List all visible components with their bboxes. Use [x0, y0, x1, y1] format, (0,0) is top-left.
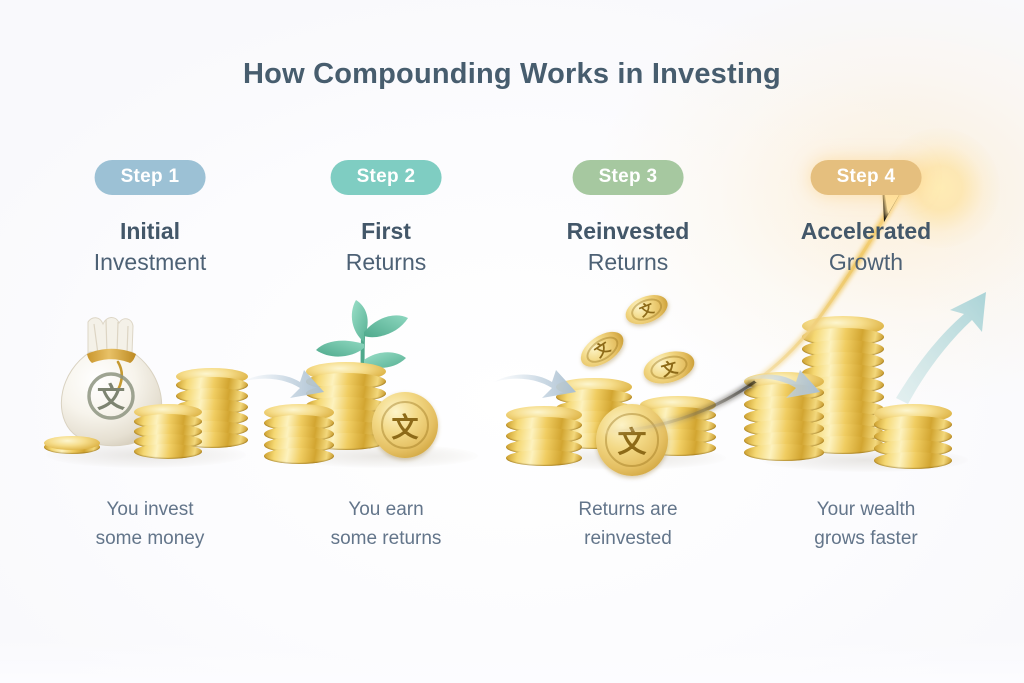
- step-caption-4: Your wealth grows faster: [738, 495, 994, 554]
- step-heading-4-line1: Accelerated: [738, 216, 994, 247]
- step-heading-2-line2: Returns: [258, 247, 514, 278]
- step-column-1: Step 1 Initial Investment: [22, 0, 278, 683]
- coin-glyph: 文: [97, 381, 125, 414]
- step-heading-1: Initial Investment: [22, 216, 278, 277]
- coin-face-emblem: 文: [372, 392, 438, 458]
- step-caption-1-line2: some money: [96, 528, 205, 549]
- step-heading-2: First Returns: [258, 216, 514, 277]
- coin-stack-short: [264, 404, 334, 462]
- step-heading-4-line2: Growth: [738, 247, 994, 278]
- step-caption-1-line1: You invest: [107, 499, 194, 520]
- arrow-step1-to-step2: [240, 368, 326, 412]
- step-badge-1[interactable]: Step 1: [95, 160, 206, 195]
- step-badge-4[interactable]: Step 4: [811, 160, 922, 195]
- step-heading-2-line1: First: [258, 216, 514, 247]
- step-caption-1: You invest some money: [22, 495, 278, 554]
- coin-glyph: 文: [575, 325, 630, 374]
- coin-glyph: 文: [372, 392, 438, 458]
- growth-arrow-icon: [888, 286, 996, 406]
- falling-coin: 文: [621, 289, 678, 346]
- coin-glyph: 文: [596, 404, 668, 476]
- step-caption-2-line1: You earn: [348, 499, 423, 520]
- step-caption-4-line2: grows faster: [814, 528, 917, 549]
- bottom-fade: [0, 639, 1024, 683]
- coin-stack-short: [134, 404, 202, 460]
- step-caption-2: You earn some returns: [258, 495, 514, 554]
- step-badge-3[interactable]: Step 3: [573, 160, 684, 195]
- step-heading-3-line1: Reinvested: [500, 216, 756, 247]
- infographic-canvas: How Compounding Works in Investing Step …: [0, 0, 1024, 683]
- coin-stack-left: [506, 406, 582, 472]
- step-heading-3: Reinvested Returns: [500, 216, 756, 277]
- coin-stack-short: [874, 404, 952, 470]
- step-caption-4-line1: Your wealth: [817, 499, 916, 520]
- step-caption-3-line1: Returns are: [578, 499, 677, 520]
- step-column-4: Step 4 Accelerated Growth: [738, 0, 994, 683]
- coin-glyph: 文: [640, 346, 698, 389]
- step-heading-4: Accelerated Growth: [738, 216, 994, 277]
- step-caption-3: Returns are reinvested: [500, 495, 756, 554]
- step-heading-3-line2: Returns: [500, 247, 756, 278]
- step-heading-1-line1: Initial: [22, 216, 278, 247]
- step-column-2: Step 2 First Returns: [258, 0, 514, 683]
- step-badge-2[interactable]: Step 2: [331, 160, 442, 195]
- step-caption-2-line2: some returns: [331, 528, 442, 549]
- coin-face-emblem: 文: [596, 404, 668, 476]
- arrow-step3-to-step4: [736, 368, 822, 412]
- step-column-3: Step 3 Reinvested Returns 文 文: [500, 0, 756, 683]
- coin-loose: [44, 436, 100, 456]
- coin-glyph: 文: [621, 289, 672, 330]
- step-caption-3-line2: reinvested: [584, 528, 672, 549]
- step-heading-1-line2: Investment: [22, 247, 278, 278]
- arrow-step2-to-step3: [492, 368, 578, 412]
